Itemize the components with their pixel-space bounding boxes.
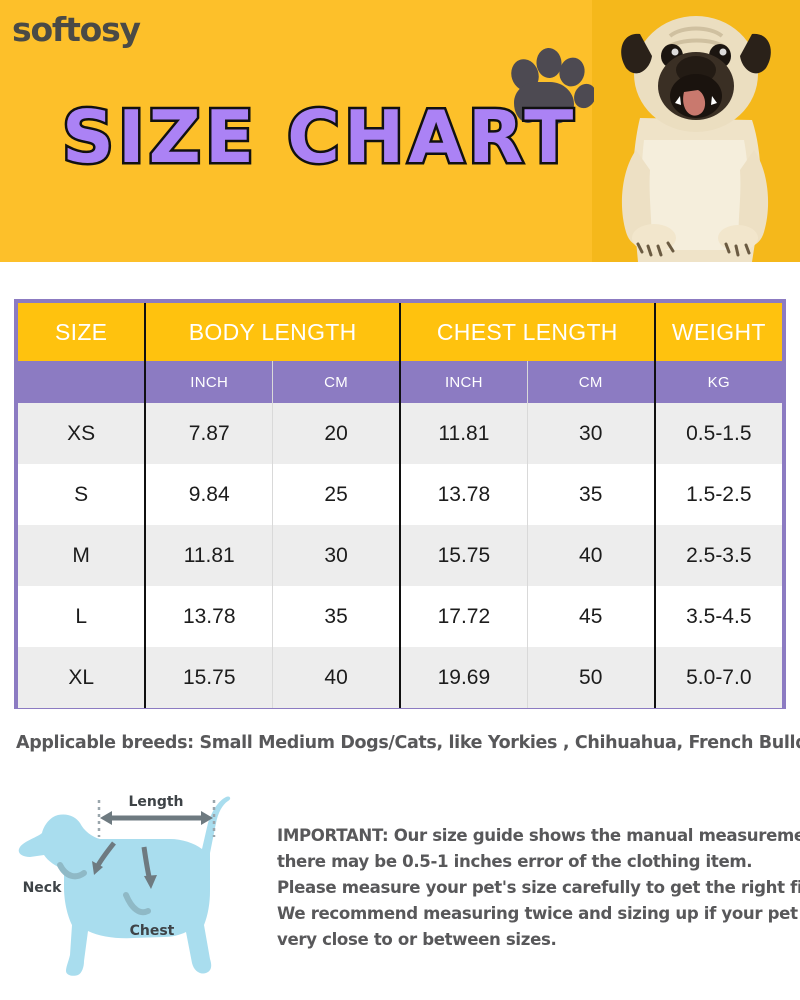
unit-blank <box>18 361 145 403</box>
diagram-label-neck: Neck <box>23 880 63 896</box>
unit-weight-kg: KG <box>655 361 782 403</box>
pug-dog-photo <box>592 0 800 262</box>
header-size: SIZE <box>18 303 145 361</box>
cell-chest-cm: 40 <box>527 525 654 586</box>
cell-size: L <box>18 586 145 647</box>
cell-weight-kg: 5.0-7.0 <box>655 647 782 708</box>
cell-chest-cm: 45 <box>527 586 654 647</box>
unit-chest-inch: INCH <box>400 361 527 403</box>
cell-weight-kg: 0.5-1.5 <box>655 403 782 464</box>
cell-chest-cm: 30 <box>527 403 654 464</box>
table-row: XS 7.87 20 11.81 30 0.5-1.5 <box>18 403 782 464</box>
header-weight: WEIGHT <box>655 303 782 361</box>
unit-body-inch: INCH <box>145 361 272 403</box>
size-chart-table: SIZE BODY LENGTH CHEST LENGTH WEIGHT INC… <box>14 299 786 709</box>
cell-chest-inch: 11.81 <box>400 403 527 464</box>
important-line-1: IMPORTANT: Our size guide shows the manu… <box>277 823 789 849</box>
header-chest-length: CHEST LENGTH <box>400 303 655 361</box>
cell-chest-inch: 15.75 <box>400 525 527 586</box>
table-row: M 11.81 30 15.75 40 2.5-3.5 <box>18 525 782 586</box>
unit-chest-cm: CM <box>527 361 654 403</box>
cell-body-cm: 40 <box>273 647 400 708</box>
cell-weight-kg: 1.5-2.5 <box>655 464 782 525</box>
applicable-breeds-note: Applicable breeds: Small Medium Dogs/Cat… <box>16 733 800 753</box>
cell-body-inch: 9.84 <box>145 464 272 525</box>
cell-body-inch: 15.75 <box>145 647 272 708</box>
cell-body-inch: 7.87 <box>145 403 272 464</box>
important-line-3: Please measure your pet's size carefully… <box>277 875 789 901</box>
important-line-5: very close to or between sizes. <box>277 927 789 953</box>
cell-body-inch: 13.78 <box>145 586 272 647</box>
cell-size: XL <box>18 647 145 708</box>
cell-size: XS <box>18 403 145 464</box>
important-note: IMPORTANT: Our size guide shows the manu… <box>277 823 789 953</box>
important-line-2: there may be 0.5-1 inches error of the c… <box>277 849 789 875</box>
cell-body-cm: 35 <box>273 586 400 647</box>
cell-chest-inch: 13.78 <box>400 464 527 525</box>
diagram-label-length: Length <box>128 794 183 810</box>
brand-logo: softosy <box>12 10 140 49</box>
cell-chest-cm: 35 <box>527 464 654 525</box>
cell-body-cm: 20 <box>273 403 400 464</box>
dog-measurement-diagram: Length Neck Chest <box>14 775 266 987</box>
cell-chest-inch: 17.72 <box>400 586 527 647</box>
page-title: SIZE CHART <box>62 95 577 179</box>
cell-weight-kg: 2.5-3.5 <box>655 525 782 586</box>
cell-chest-inch: 19.69 <box>400 647 527 708</box>
unit-body-cm: CM <box>273 361 400 403</box>
table-unit-header-row: INCH CM INCH CM KG <box>18 361 782 403</box>
header-body-length: BODY LENGTH <box>145 303 400 361</box>
measurement-guide-section: Length Neck Chest IMPORTANT: Our size gu… <box>0 775 800 1000</box>
cell-size: S <box>18 464 145 525</box>
diagram-label-chest: Chest <box>130 923 175 939</box>
cell-chest-cm: 50 <box>527 647 654 708</box>
header-banner: softosy SIZE CHART <box>0 0 800 262</box>
table-group-header-row: SIZE BODY LENGTH CHEST LENGTH WEIGHT <box>18 303 782 361</box>
table-row: L 13.78 35 17.72 45 3.5-4.5 <box>18 586 782 647</box>
table-row: S 9.84 25 13.78 35 1.5-2.5 <box>18 464 782 525</box>
table-row: XL 15.75 40 19.69 50 5.0-7.0 <box>18 647 782 708</box>
cell-weight-kg: 3.5-4.5 <box>655 586 782 647</box>
cell-body-cm: 25 <box>273 464 400 525</box>
cell-body-cm: 30 <box>273 525 400 586</box>
cell-size: M <box>18 525 145 586</box>
cell-body-inch: 11.81 <box>145 525 272 586</box>
important-line-4: We recommend measuring twice and sizing … <box>277 901 789 927</box>
